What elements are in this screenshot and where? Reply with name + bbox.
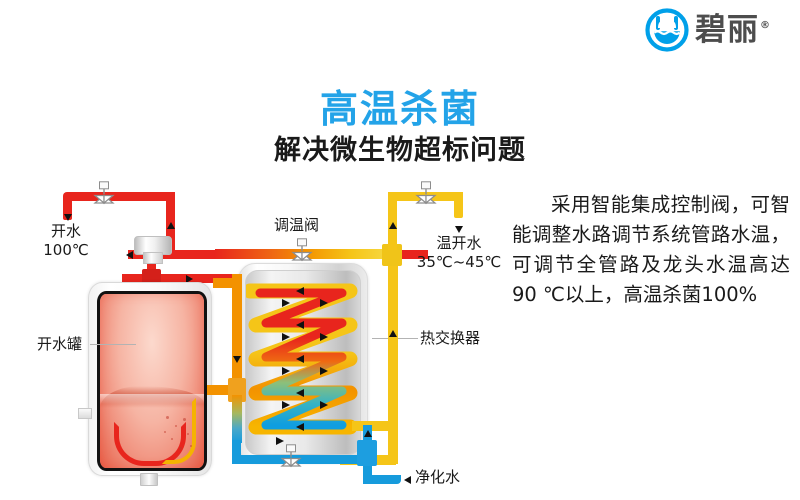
purified-water-inlet-pipe (363, 475, 401, 484)
flow-arrow-icon (389, 222, 397, 229)
hot-water-label: 开水 100℃ (26, 222, 106, 260)
tank-top-collar (143, 252, 163, 264)
tank-bubbles (162, 414, 196, 458)
purified-water-inlet-valve[interactable] (280, 444, 302, 470)
tank-side-port (78, 408, 92, 419)
tank-drain-foot (140, 473, 158, 486)
warm-water-temp-text: 35℃~45℃ (406, 253, 512, 272)
purified-water-fitting (357, 440, 377, 466)
mixing-valve[interactable] (291, 238, 313, 264)
flow-arrow-icon (389, 330, 397, 337)
exchanger-cold-transition-pipe (232, 395, 242, 443)
flow-arrow-icon (404, 476, 411, 484)
water-drop-wave-icon (645, 8, 689, 52)
registered-mark: ® (760, 20, 771, 31)
heat-exchanger-label: 热交换器 (420, 329, 480, 348)
flow-arrow-icon (126, 251, 133, 259)
exchanger-feed-tee-top (213, 278, 237, 288)
boiler-tank-label: 开水罐 (37, 335, 82, 354)
page-title: 高温杀菌 (0, 78, 800, 133)
warm-water-hx-link (352, 421, 396, 431)
description-paragraph: 采用智能集成控制阀，可智能调整水路调节系统管路水温，可调节全管路及龙头水温高达9… (512, 190, 790, 310)
warm-water-label-text: 温开水 (406, 234, 512, 253)
page-subtitle: 解决微生物超标问题 (0, 128, 800, 167)
warm-water-riser (388, 249, 398, 464)
flow-arrow-icon (455, 226, 463, 233)
brand-name-text: 碧丽 (695, 12, 759, 48)
warm-water-label: 温开水 35℃~45℃ (406, 234, 512, 272)
boiler-tank-leader-line (90, 344, 136, 345)
heat-exchanger-body (245, 270, 361, 455)
brand-name: 碧丽® (695, 15, 771, 46)
flow-arrow-icon (64, 214, 72, 221)
flow-arrow-icon (233, 356, 241, 363)
warm-water-outlet-pipe (454, 192, 463, 218)
hot-water-outlet-valve[interactable] (93, 181, 115, 207)
flow-arrow-icon (364, 430, 372, 437)
hot-water-temp-text: 100℃ (26, 241, 106, 260)
purified-water-label: 净化水 (415, 468, 460, 487)
infographic-canvas: 碧丽® 高温杀菌 解决微生物超标问题 采用智能集成控制阀，可智能调整水路调节系统… (0, 0, 800, 500)
brand-logo: 碧丽® (645, 8, 771, 52)
exchanger-feed-riser (232, 274, 242, 394)
boiler-tank-body (97, 291, 207, 471)
warm-water-outlet-valve[interactable] (415, 181, 437, 207)
purified-water-main-pipe (232, 455, 372, 464)
hot-water-label-text: 开水 (26, 222, 106, 241)
mixing-valve-label: 调温阀 (274, 216, 319, 235)
flow-arrow-icon (167, 222, 175, 229)
